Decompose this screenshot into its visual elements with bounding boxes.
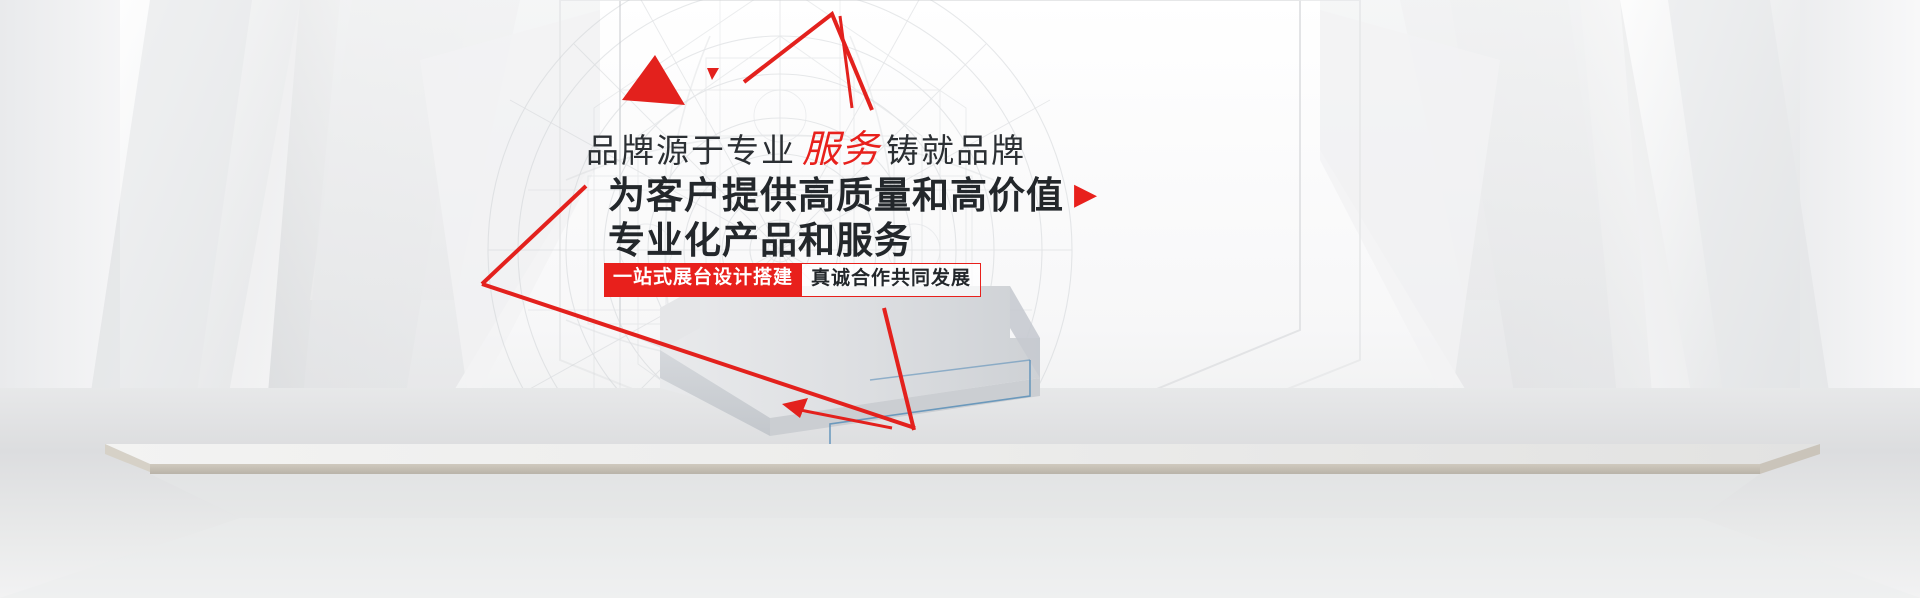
headline-prefix: 品牌源于专业 — [586, 132, 796, 169]
tagline-primary: 一站式展台设计搭建 — [604, 263, 802, 297]
headline-suffix: 铸就品牌 — [886, 132, 1026, 169]
promo-banner: 品牌源于专业服务铸就品牌 为客户提供高质量和高价值▶ 专业化产品和服务 一站式展… — [0, 0, 1920, 598]
play-triangle-icon: ▶ — [1064, 177, 1098, 212]
tagline-secondary: 真诚合作共同发展 — [802, 263, 981, 297]
banner-copy: 品牌源于专业服务铸就品牌 为客户提供高质量和高价值▶ 专业化产品和服务 一站式展… — [0, 0, 1920, 598]
tagline-group: 一站式展台设计搭建 真诚合作共同发展 — [604, 263, 981, 297]
headline-line-3: 专业化产品和服务 — [608, 210, 912, 264]
